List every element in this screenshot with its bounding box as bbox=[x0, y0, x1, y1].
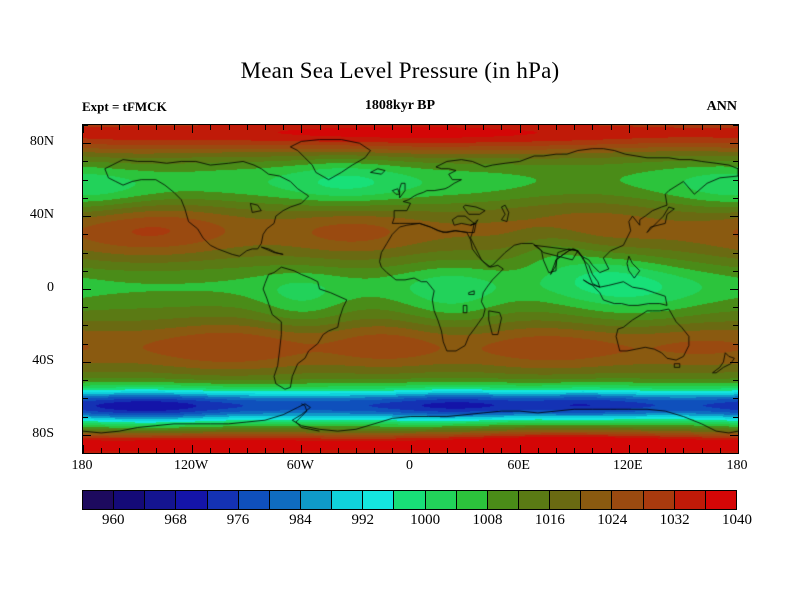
axis-tick bbox=[733, 380, 738, 381]
y-axis-tick-label: 80N bbox=[30, 134, 54, 150]
axis-tick bbox=[720, 125, 721, 130]
axis-tick bbox=[629, 125, 630, 133]
figure-root: Mean Sea Level Pressure (in hPa) 1808kyr… bbox=[0, 0, 800, 600]
axis-tick bbox=[156, 448, 157, 453]
colorbar-cell-9 bbox=[363, 491, 394, 509]
axis-tick bbox=[429, 125, 430, 130]
y-axis-tick-label: 80S bbox=[32, 426, 54, 442]
axis-tick bbox=[702, 125, 703, 130]
x-axis-tick-label: 60W bbox=[287, 458, 314, 474]
axis-tick bbox=[556, 125, 557, 130]
colorbar-cell-7 bbox=[301, 491, 332, 509]
colorbar-cell-8 bbox=[332, 491, 363, 509]
axis-tick bbox=[665, 448, 666, 453]
axis-tick bbox=[733, 417, 738, 418]
x-axis-tick-label: 120E bbox=[613, 458, 643, 474]
axis-tick bbox=[702, 448, 703, 453]
colorbar-cell-4 bbox=[208, 491, 239, 509]
axis-tick bbox=[392, 125, 393, 130]
y-axis-tick-label: 0 bbox=[47, 280, 54, 296]
axis-tick bbox=[338, 125, 339, 130]
colorbar bbox=[82, 490, 737, 510]
colorbar-tick-label: 992 bbox=[351, 512, 374, 529]
axis-tick bbox=[83, 307, 88, 308]
axis-tick bbox=[83, 234, 88, 235]
colorbar-cell-1 bbox=[114, 491, 145, 509]
axis-tick bbox=[83, 253, 88, 254]
axis-tick bbox=[538, 125, 539, 130]
axis-tick bbox=[229, 448, 230, 453]
axis-tick bbox=[574, 125, 575, 130]
axis-tick bbox=[83, 125, 84, 133]
colorbar-cell-3 bbox=[176, 491, 207, 509]
colorbar-cell-19 bbox=[675, 491, 706, 509]
colorbar-cell-13 bbox=[488, 491, 519, 509]
axis-tick bbox=[556, 448, 557, 453]
mslp-contour-field bbox=[83, 125, 738, 453]
axis-tick bbox=[730, 143, 738, 144]
axis-tick bbox=[119, 448, 120, 453]
axis-tick bbox=[733, 344, 738, 345]
colorbar-cell-17 bbox=[612, 491, 643, 509]
axis-tick bbox=[483, 125, 484, 130]
axis-tick bbox=[83, 198, 88, 199]
colorbar-cell-12 bbox=[457, 491, 488, 509]
axis-tick bbox=[138, 125, 139, 130]
axis-tick bbox=[733, 398, 738, 399]
axis-tick bbox=[83, 453, 88, 454]
axis-tick bbox=[247, 448, 248, 453]
x-axis-tick-label: 60E bbox=[507, 458, 530, 474]
colorbar-tick-label: 1000 bbox=[410, 512, 440, 529]
axis-tick bbox=[574, 448, 575, 453]
axis-tick bbox=[374, 448, 375, 453]
axis-tick bbox=[738, 125, 739, 133]
axis-tick bbox=[411, 125, 412, 133]
axis-tick bbox=[629, 445, 630, 453]
colorbar-tick-label: 1024 bbox=[597, 512, 627, 529]
axis-tick bbox=[730, 362, 738, 363]
axis-tick bbox=[683, 125, 684, 130]
axis-tick bbox=[229, 125, 230, 130]
axis-tick bbox=[465, 125, 466, 130]
axis-tick bbox=[733, 161, 738, 162]
axis-tick bbox=[83, 417, 88, 418]
axis-tick bbox=[174, 448, 175, 453]
y-axis-tick-label: 40N bbox=[30, 207, 54, 223]
axis-tick bbox=[320, 448, 321, 453]
colorbar-tick-label: 1040 bbox=[722, 512, 752, 529]
y-axis-tick-label: 40S bbox=[32, 353, 54, 369]
x-axis-tick-label: 0 bbox=[406, 458, 413, 474]
axis-tick bbox=[83, 289, 91, 290]
colorbar-cell-5 bbox=[239, 491, 270, 509]
axis-tick bbox=[730, 435, 738, 436]
axis-tick bbox=[733, 180, 738, 181]
axis-tick bbox=[520, 125, 521, 133]
axis-tick bbox=[83, 362, 91, 363]
axis-tick bbox=[101, 448, 102, 453]
axis-tick bbox=[247, 125, 248, 130]
axis-tick bbox=[83, 216, 91, 217]
axis-tick bbox=[265, 448, 266, 453]
colorbar-tick-label: 960 bbox=[102, 512, 125, 529]
axis-tick bbox=[156, 125, 157, 130]
x-axis-tick-label: 180 bbox=[727, 458, 748, 474]
axis-tick bbox=[647, 448, 648, 453]
axis-tick bbox=[356, 125, 357, 130]
axis-tick bbox=[119, 125, 120, 130]
colorbar-cell-11 bbox=[426, 491, 457, 509]
axis-tick bbox=[83, 325, 88, 326]
axis-tick bbox=[374, 125, 375, 130]
axis-tick bbox=[733, 198, 738, 199]
axis-tick bbox=[611, 448, 612, 453]
axis-tick bbox=[733, 125, 738, 126]
axis-tick bbox=[733, 253, 738, 254]
axis-tick bbox=[338, 448, 339, 453]
axis-tick bbox=[283, 125, 284, 130]
map-plot-area bbox=[82, 124, 739, 454]
axis-tick bbox=[733, 271, 738, 272]
axis-tick bbox=[733, 453, 738, 454]
axis-tick bbox=[447, 448, 448, 453]
colorbar-tick-label: 1016 bbox=[535, 512, 565, 529]
axis-tick bbox=[192, 445, 193, 453]
axis-tick bbox=[611, 125, 612, 130]
axis-tick bbox=[501, 448, 502, 453]
axis-tick bbox=[447, 125, 448, 130]
x-axis-tick-label: 180 bbox=[72, 458, 93, 474]
x-axis-tick-label: 120W bbox=[174, 458, 208, 474]
experiment-label: Expt = tFMCK bbox=[82, 99, 167, 115]
axis-tick bbox=[83, 125, 88, 126]
axis-tick bbox=[101, 125, 102, 130]
axis-tick bbox=[738, 445, 739, 453]
colorbar-swatches bbox=[82, 490, 737, 510]
colorbar-tick-label: 1032 bbox=[660, 512, 690, 529]
season-label: ANN bbox=[707, 99, 737, 115]
axis-tick bbox=[301, 125, 302, 133]
axis-tick bbox=[720, 448, 721, 453]
axis-tick bbox=[83, 380, 88, 381]
axis-tick bbox=[538, 448, 539, 453]
axis-tick bbox=[83, 435, 91, 436]
colorbar-cell-10 bbox=[394, 491, 425, 509]
colorbar-cell-14 bbox=[519, 491, 550, 509]
colorbar-cell-2 bbox=[145, 491, 176, 509]
axis-tick bbox=[83, 161, 88, 162]
axis-tick bbox=[730, 216, 738, 217]
axis-tick bbox=[320, 125, 321, 130]
axis-tick bbox=[392, 448, 393, 453]
axis-tick bbox=[733, 307, 738, 308]
axis-tick bbox=[520, 445, 521, 453]
axis-tick bbox=[356, 448, 357, 453]
colorbar-cell-15 bbox=[550, 491, 581, 509]
axis-tick bbox=[210, 125, 211, 130]
axis-tick bbox=[174, 125, 175, 130]
axis-tick bbox=[301, 445, 302, 453]
axis-tick bbox=[210, 448, 211, 453]
axis-tick bbox=[733, 234, 738, 235]
axis-tick bbox=[83, 180, 88, 181]
axis-tick bbox=[733, 325, 738, 326]
axis-tick bbox=[592, 125, 593, 130]
axis-tick bbox=[138, 448, 139, 453]
colorbar-tick-label: 968 bbox=[164, 512, 187, 529]
axis-tick bbox=[501, 125, 502, 130]
axis-tick bbox=[683, 448, 684, 453]
page-title: Mean Sea Level Pressure (in hPa) bbox=[0, 58, 800, 84]
axis-tick bbox=[465, 448, 466, 453]
axis-tick bbox=[483, 448, 484, 453]
axis-tick bbox=[192, 125, 193, 133]
axis-tick bbox=[83, 445, 84, 453]
axis-tick bbox=[665, 125, 666, 130]
colorbar-tick-label: 1008 bbox=[472, 512, 502, 529]
colorbar-cell-6 bbox=[270, 491, 301, 509]
axis-tick bbox=[283, 448, 284, 453]
axis-tick bbox=[592, 448, 593, 453]
colorbar-cell-20 bbox=[706, 491, 736, 509]
axis-tick bbox=[83, 143, 91, 144]
axis-tick bbox=[265, 125, 266, 130]
axis-tick bbox=[647, 125, 648, 130]
colorbar-cell-18 bbox=[644, 491, 675, 509]
axis-tick bbox=[83, 398, 88, 399]
colorbar-cell-16 bbox=[581, 491, 612, 509]
colorbar-cell-0 bbox=[83, 491, 114, 509]
axis-tick bbox=[429, 448, 430, 453]
axis-tick bbox=[83, 344, 88, 345]
axis-tick bbox=[411, 445, 412, 453]
axis-tick bbox=[730, 289, 738, 290]
colorbar-tick-label: 976 bbox=[227, 512, 250, 529]
axis-tick bbox=[83, 271, 88, 272]
colorbar-tick-label: 984 bbox=[289, 512, 312, 529]
